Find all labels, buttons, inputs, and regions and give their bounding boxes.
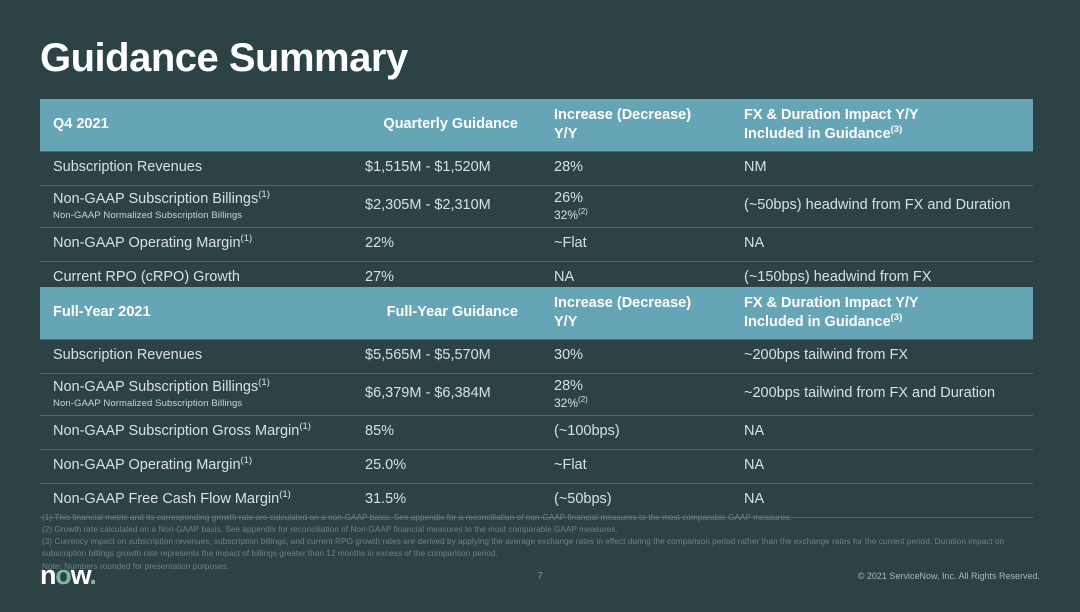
- cell-increase-value: ~Flat: [547, 449, 737, 483]
- fy-guidance-table: Full-Year 2021 Full-Year Guidance Increa…: [40, 287, 1033, 518]
- metric-label: Non-GAAP Subscription Billings: [53, 379, 258, 395]
- increase-primary: (~100bps): [554, 423, 620, 439]
- cell-increase-value: 30%: [547, 339, 737, 373]
- table-row: Non-GAAP Subscription Billings(1)Non-GAA…: [40, 373, 1033, 415]
- metric-label: Non-GAAP Operating Margin: [53, 235, 241, 251]
- column-header-fx-line1: FX & Duration Impact Y/Y: [744, 106, 1033, 125]
- increase-primary: 30%: [554, 347, 583, 363]
- cell-guidance-value: $5,565M - $5,570M: [365, 339, 547, 373]
- cell-metric-name: Non-GAAP Subscription Billings(1)Non-GAA…: [40, 373, 365, 415]
- cell-increase-value: 28%32%(2): [547, 373, 737, 415]
- cell-guidance-value: $6,379M - $6,384M: [365, 373, 547, 415]
- cell-metric-name: Subscription Revenues: [40, 339, 365, 373]
- cell-guidance-value: $1,515M - $1,520M: [365, 151, 547, 185]
- metric-label: Subscription Revenues: [53, 347, 202, 363]
- footnote-marker-1: (1): [258, 377, 270, 388]
- table-row: Non-GAAP Subscription Billings(1)Non-GAA…: [40, 185, 1033, 227]
- footnote-marker-1: (1): [258, 189, 270, 200]
- cell-metric-name: Subscription Revenues: [40, 151, 365, 185]
- column-header-increase-line2: Y/Y: [554, 313, 737, 332]
- cell-increase-value: ~Flat: [547, 227, 737, 261]
- footnote-line: (3) Currency impact on subscription reve…: [42, 536, 1042, 560]
- column-header-fx-line2-text: Included in Guidance: [744, 126, 891, 142]
- footnote-marker-1: (1): [299, 421, 311, 432]
- footnote-marker-3: (3): [891, 124, 903, 135]
- column-header-increase-line1: Increase (Decrease): [554, 106, 737, 125]
- footnote-line: (1) This financial metric and its corres…: [42, 512, 1042, 524]
- column-header-period: Q4 2021: [40, 99, 365, 151]
- metric-label: Non-GAAP Subscription Billings: [53, 191, 258, 207]
- metric-label: Non-GAAP Free Cash Flow Margin: [53, 491, 279, 507]
- increase-primary: 26%: [554, 190, 583, 206]
- increase-primary: ~Flat: [554, 235, 587, 251]
- table-header-row: Full-Year 2021 Full-Year Guidance Increa…: [40, 287, 1033, 339]
- column-header-fx-duration: FX & Duration Impact Y/Y Included in Gui…: [737, 287, 1033, 339]
- table-header-row: Q4 2021 Quarterly Guidance Increase (Dec…: [40, 99, 1033, 151]
- cell-metric-name: Non-GAAP Operating Margin(1): [40, 449, 365, 483]
- cell-increase-value: 28%: [547, 151, 737, 185]
- table-row: Subscription Revenues$5,565M - $5,570M30…: [40, 339, 1033, 373]
- footnote-marker-1: (1): [241, 233, 253, 244]
- column-header-fx-line2-text: Included in Guidance: [744, 314, 891, 330]
- footnote-marker-3: (3): [891, 312, 903, 323]
- increase-primary: ~Flat: [554, 457, 587, 473]
- cell-fx-duration-impact: NM: [737, 151, 1033, 185]
- column-header-increase-line2: Y/Y: [554, 125, 737, 144]
- column-header-fx-line2: Included in Guidance(3): [744, 125, 1033, 144]
- footnote-marker-2: (2): [578, 395, 588, 404]
- footnote-marker-1: (1): [279, 489, 291, 500]
- page-title: Guidance Summary: [40, 38, 408, 78]
- increase-primary: (~50bps): [554, 491, 612, 507]
- column-header-increase-line1: Increase (Decrease): [554, 294, 737, 313]
- cell-metric-name: Non-GAAP Operating Margin(1): [40, 227, 365, 261]
- cell-guidance-value: $2,305M - $2,310M: [365, 185, 547, 227]
- metric-label: Non-GAAP Operating Margin: [53, 457, 241, 473]
- copyright-notice: © 2021 ServiceNow, Inc. All Rights Reser…: [858, 571, 1040, 581]
- fy-guidance-table-block: Full-Year 2021 Full-Year Guidance Increa…: [40, 287, 1033, 518]
- metric-label: Current RPO (cRPO) Growth: [53, 269, 240, 285]
- table-row: Non-GAAP Operating Margin(1)25.0%~FlatNA: [40, 449, 1033, 483]
- cell-fx-duration-impact: NA: [737, 449, 1033, 483]
- cell-guidance-value: 22%: [365, 227, 547, 261]
- column-header-guidance: Full-Year Guidance: [365, 287, 547, 339]
- q4-table-header: Q4 2021 Quarterly Guidance Increase (Dec…: [40, 99, 1033, 151]
- q4-guidance-table-block: Q4 2021 Quarterly Guidance Increase (Dec…: [40, 99, 1033, 296]
- column-header-fx-line1: FX & Duration Impact Y/Y: [744, 294, 1033, 313]
- metric-sublabel: Non-GAAP Normalized Subscription Billing…: [53, 398, 365, 409]
- column-header-fx-line2: Included in Guidance(3): [744, 313, 1033, 332]
- cell-metric-name: Non-GAAP Subscription Gross Margin(1): [40, 415, 365, 449]
- cell-fx-duration-impact: ~200bps tailwind from FX and Duration: [737, 373, 1033, 415]
- column-header-increase: Increase (Decrease) Y/Y: [547, 287, 737, 339]
- cell-fx-duration-impact: NA: [737, 415, 1033, 449]
- metric-sublabel: Non-GAAP Normalized Subscription Billing…: [53, 210, 365, 221]
- table-row: Non-GAAP Subscription Gross Margin(1)85%…: [40, 415, 1033, 449]
- column-header-period: Full-Year 2021: [40, 287, 365, 339]
- increase-secondary: 32%(2): [554, 396, 737, 410]
- cell-metric-name: Non-GAAP Subscription Billings(1)Non-GAA…: [40, 185, 365, 227]
- fy-table-header: Full-Year 2021 Full-Year Guidance Increa…: [40, 287, 1033, 339]
- cell-fx-duration-impact: NA: [737, 227, 1033, 261]
- cell-increase-value: 26%32%(2): [547, 185, 737, 227]
- increase-primary: 28%: [554, 378, 583, 394]
- fy-table-body: Subscription Revenues$5,565M - $5,570M30…: [40, 339, 1033, 517]
- table-row: Subscription Revenues$1,515M - $1,520M28…: [40, 151, 1033, 185]
- q4-table-body: Subscription Revenues$1,515M - $1,520M28…: [40, 151, 1033, 295]
- footnote-marker-1: (1): [241, 455, 253, 466]
- column-header-guidance: Quarterly Guidance: [365, 99, 547, 151]
- increase-primary: 28%: [554, 159, 583, 175]
- column-header-fx-duration: FX & Duration Impact Y/Y Included in Gui…: [737, 99, 1033, 151]
- table-row: Non-GAAP Operating Margin(1)22%~FlatNA: [40, 227, 1033, 261]
- footnote-line: (2) Growth rate calculated on a Non-GAAP…: [42, 524, 1042, 536]
- cell-increase-value: (~100bps): [547, 415, 737, 449]
- q4-guidance-table: Q4 2021 Quarterly Guidance Increase (Dec…: [40, 99, 1033, 296]
- cell-guidance-value: 85%: [365, 415, 547, 449]
- metric-label: Non-GAAP Subscription Gross Margin: [53, 423, 299, 439]
- metric-label: Subscription Revenues: [53, 159, 202, 175]
- increase-primary: NA: [554, 269, 574, 285]
- increase-secondary: 32%(2): [554, 208, 737, 222]
- column-header-increase: Increase (Decrease) Y/Y: [547, 99, 737, 151]
- cell-guidance-value: 25.0%: [365, 449, 547, 483]
- footnote-marker-2: (2): [578, 207, 588, 216]
- cell-fx-duration-impact: (~50bps) headwind from FX and Duration: [737, 185, 1033, 227]
- footnotes-block: (1) This financial metric and its corres…: [42, 512, 1042, 573]
- cell-fx-duration-impact: ~200bps tailwind from FX: [737, 339, 1033, 373]
